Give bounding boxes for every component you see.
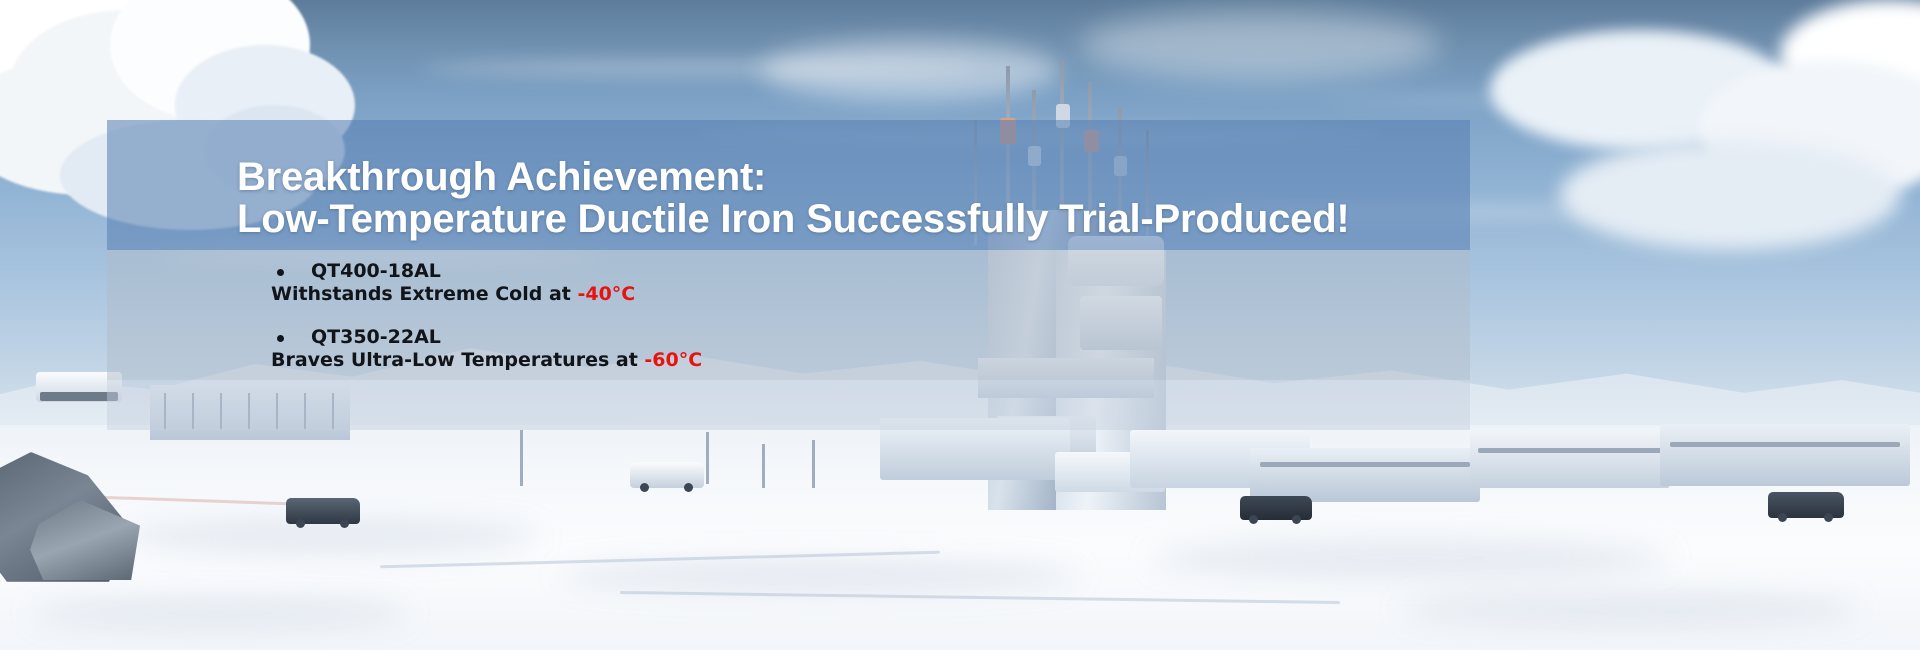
- railcar: [1660, 424, 1910, 486]
- bullet-dot-icon: [277, 269, 284, 276]
- product-bullet-list: QT400-18AL Withstands Extreme Cold at -4…: [277, 260, 1377, 392]
- wheel: [684, 483, 693, 492]
- bullet-description-2: Braves Ultra-Low Temperatures at -60°C: [271, 349, 1377, 372]
- utility-pole: [812, 440, 815, 488]
- list-item: QT350-22AL Braves Ultra-Low Temperatures…: [277, 326, 1377, 372]
- railcar: [1470, 432, 1670, 488]
- cloud: [1560, 140, 1900, 250]
- wheel: [1824, 513, 1833, 522]
- bullet-description-1: Withstands Extreme Cold at -40°C: [271, 283, 1377, 306]
- vehicle-suv: [630, 462, 704, 488]
- headline-line-2: Low-Temperature Ductile Iron Successfull…: [237, 198, 1477, 240]
- list-item: QT400-18AL Withstands Extreme Cold at -4…: [277, 260, 1377, 306]
- snow-shadow: [30, 600, 410, 626]
- bullet-grade-1: QT400-18AL: [277, 260, 1377, 283]
- railcar-stripe: [1478, 448, 1662, 453]
- railcar-stripe: [1670, 442, 1900, 447]
- wheel: [1778, 513, 1787, 522]
- wheel: [1292, 515, 1301, 524]
- wheel: [1249, 515, 1258, 524]
- utility-pole: [706, 432, 709, 484]
- vehicle-car: [1240, 496, 1312, 520]
- bullet-grade-label: QT400-18AL: [311, 260, 441, 282]
- content-overlay-panel: Breakthrough Achievement: Low-Temperatur…: [107, 120, 1470, 430]
- railcar-stripe: [1260, 462, 1470, 467]
- utility-pole: [762, 444, 765, 488]
- temperature-value: -60°C: [644, 349, 702, 371]
- snow-shadow: [1150, 540, 1670, 576]
- snow-shadow: [1400, 595, 1860, 623]
- utility-pole: [520, 430, 523, 486]
- vehicle-car: [1768, 492, 1844, 518]
- headline-line-1: Breakthrough Achievement:: [237, 156, 1477, 198]
- vehicle-suv: [286, 498, 360, 524]
- bullet-description-text: Braves Ultra-Low Temperatures at: [271, 349, 644, 371]
- wheel: [296, 519, 305, 528]
- bullet-description-text: Withstands Extreme Cold at: [271, 283, 577, 305]
- bullet-grade-2: QT350-22AL: [277, 326, 1377, 349]
- bullet-grade-label: QT350-22AL: [311, 326, 441, 348]
- snow-shadow: [120, 520, 540, 554]
- bullet-dot-icon: [277, 335, 284, 342]
- wheel: [340, 519, 349, 528]
- wheel: [640, 483, 649, 492]
- railcar: [1250, 448, 1480, 502]
- promo-banner: Breakthrough Achievement: Low-Temperatur…: [0, 0, 1920, 650]
- temperature-value: -40°C: [577, 283, 635, 305]
- banner-headline: Breakthrough Achievement: Low-Temperatur…: [237, 156, 1477, 240]
- snow-shadow: [560, 560, 1080, 590]
